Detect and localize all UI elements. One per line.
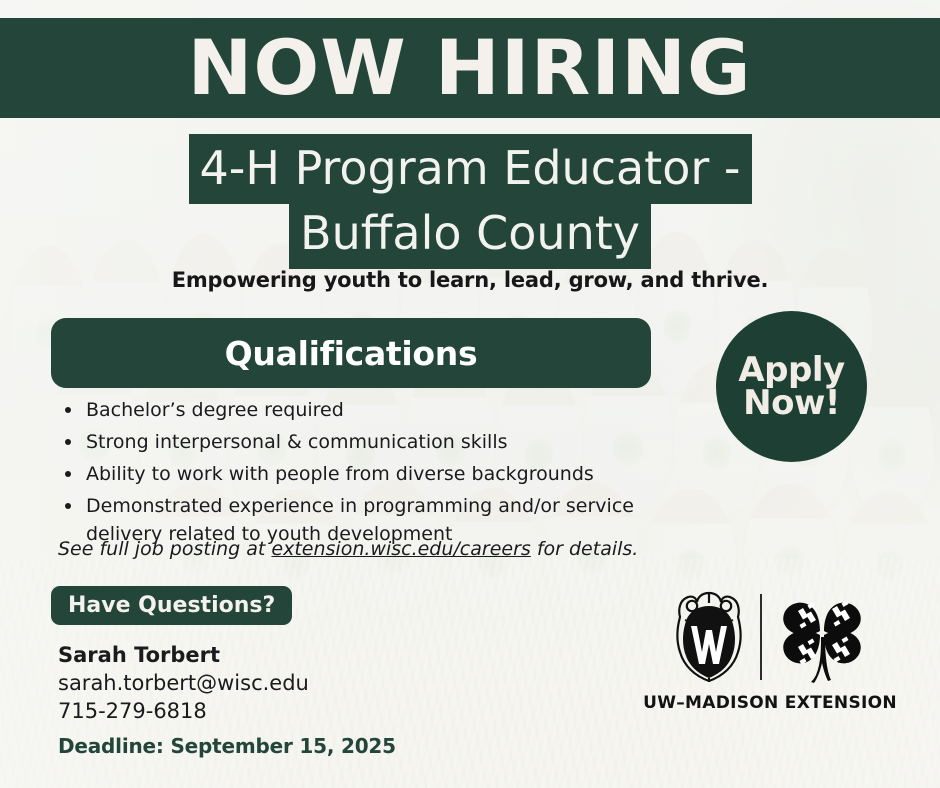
logo-lockup: UW–MADISON EXTENSION xyxy=(625,583,915,728)
list-item: Ability to work with people from diverse… xyxy=(58,460,668,488)
qualifications-list: Bachelor’s degree required Strong interp… xyxy=(58,396,668,552)
deadline-text: Deadline: September 15, 2025 xyxy=(58,734,396,758)
posting-note-prefix: See full job posting at xyxy=(58,538,271,560)
list-item-label: Ability to work with people from diverse… xyxy=(86,463,594,485)
qualifications-heading-box: Qualifications xyxy=(51,318,651,388)
four-h-clover-icon xyxy=(776,587,868,688)
list-item-label: Bachelor’s degree required xyxy=(86,399,344,421)
contact-email[interactable]: sarah.torbert@wisc.edu xyxy=(58,669,309,697)
bullet-icon xyxy=(65,439,71,445)
have-questions-box: Have Questions? xyxy=(51,586,292,625)
apply-now-line-2: Now! xyxy=(743,387,840,420)
posting-note-suffix: for details. xyxy=(531,538,639,560)
job-title: 4-H Program Educator - Buffalo County xyxy=(0,136,940,267)
contact-name: Sarah Torbert xyxy=(58,641,309,669)
apply-now-badge[interactable]: Apply Now! xyxy=(716,311,867,462)
have-questions-label: Have Questions? xyxy=(68,593,275,618)
apply-now-line-1: Apply xyxy=(738,354,844,387)
job-title-line-2: Buffalo County xyxy=(289,199,651,269)
bullet-icon xyxy=(65,471,71,477)
tagline: Empowering youth to learn, lead, grow, a… xyxy=(0,268,940,292)
list-item-label: Strong interpersonal & communication ski… xyxy=(86,431,508,453)
logo-divider xyxy=(760,594,762,680)
list-item: Bachelor’s degree required xyxy=(58,396,668,424)
qualifications-heading-label: Qualifications xyxy=(225,334,478,373)
logo-caption: UW–MADISON EXTENSION xyxy=(625,693,915,713)
job-title-line-1: 4-H Program Educator - xyxy=(189,134,752,204)
now-hiring-headline: NOW HIRING xyxy=(188,30,752,106)
uw-madison-crest-icon xyxy=(672,586,746,689)
careers-link[interactable]: extension.wisc.edu/careers xyxy=(271,538,530,560)
contact-block: Sarah Torbert sarah.torbert@wisc.edu 715… xyxy=(58,641,309,725)
list-item: Strong interpersonal & communication ski… xyxy=(58,428,668,456)
contact-phone[interactable]: 715-279-6818 xyxy=(58,697,309,725)
bullet-icon xyxy=(65,407,71,413)
bullet-icon xyxy=(65,503,71,509)
now-hiring-banner: NOW HIRING xyxy=(0,18,940,118)
job-posting-flyer: NOW HIRING 4-H Program Educator - Buffal… xyxy=(0,0,940,788)
full-posting-note: See full job posting at extension.wisc.e… xyxy=(58,538,678,560)
